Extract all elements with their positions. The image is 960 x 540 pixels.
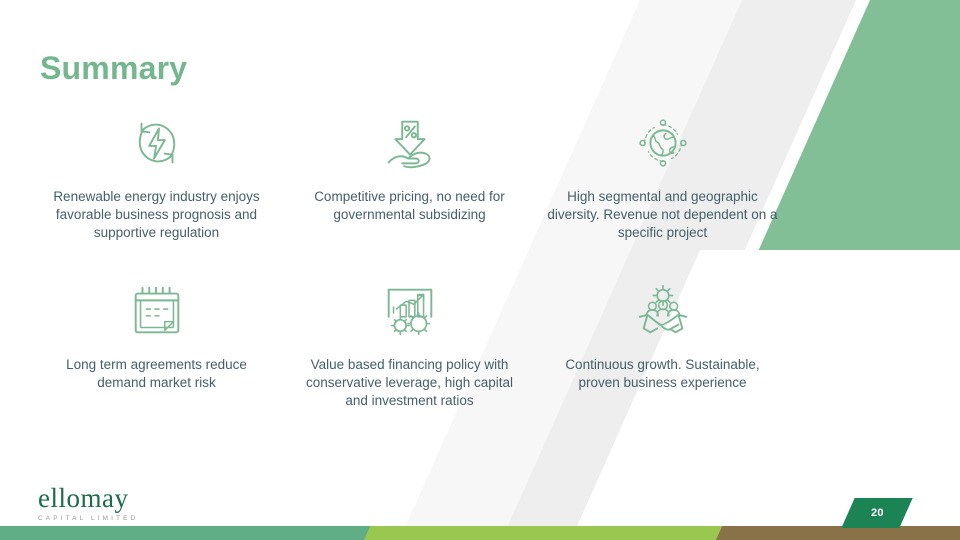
summary-item: Renewable energy industry enjoys favorab… bbox=[30, 110, 283, 242]
footer-bar-segment-brown bbox=[714, 526, 960, 540]
footer-bar-segment-green bbox=[0, 526, 380, 540]
slide-canvas: Summary Renewable energy industry enjoys… bbox=[0, 0, 960, 540]
summary-item-text: Competitive pricing, no need for governm… bbox=[302, 188, 517, 224]
handshake-team-icon bbox=[630, 278, 696, 344]
globe-network-icon bbox=[630, 110, 696, 176]
footer-color-bar bbox=[0, 526, 960, 540]
summary-item-text: Value based financing policy with conser… bbox=[294, 356, 526, 410]
summary-item-text: Renewable energy industry enjoys favorab… bbox=[49, 188, 264, 242]
summary-item-text: Long term agreements reduce demand marke… bbox=[49, 356, 264, 392]
summary-row-bottom: Long term agreements reduce demand marke… bbox=[30, 278, 790, 410]
hand-discount-icon bbox=[377, 110, 443, 176]
summary-item: Value based financing policy with conser… bbox=[283, 278, 536, 410]
summary-grid: Renewable energy industry enjoys favorab… bbox=[30, 110, 790, 410]
summary-item: Continuous growth. Sustainable, proven b… bbox=[536, 278, 789, 410]
growth-chart-gears-icon bbox=[377, 278, 443, 344]
logo-wordmark: ellomay bbox=[38, 485, 138, 512]
summary-row-top: Renewable energy industry enjoys favorab… bbox=[30, 110, 790, 242]
page-title: Summary bbox=[40, 50, 187, 87]
summary-item: Long term agreements reduce demand marke… bbox=[30, 278, 283, 410]
summary-item-text: Continuous growth. Sustainable, proven b… bbox=[555, 356, 770, 392]
summary-item: High segmental and geographic diversity.… bbox=[536, 110, 789, 242]
footer-bar-segment-lime bbox=[362, 526, 732, 540]
company-logo: ellomay CAPITAL LIMITED bbox=[38, 485, 138, 522]
renewable-energy-icon bbox=[124, 110, 190, 176]
summary-item: Competitive pricing, no need for governm… bbox=[283, 110, 536, 242]
logo-tagline: CAPITAL LIMITED bbox=[38, 515, 138, 522]
page-number: 20 bbox=[871, 507, 884, 519]
calendar-icon bbox=[124, 278, 190, 344]
summary-item-text: High segmental and geographic diversity.… bbox=[547, 188, 779, 242]
